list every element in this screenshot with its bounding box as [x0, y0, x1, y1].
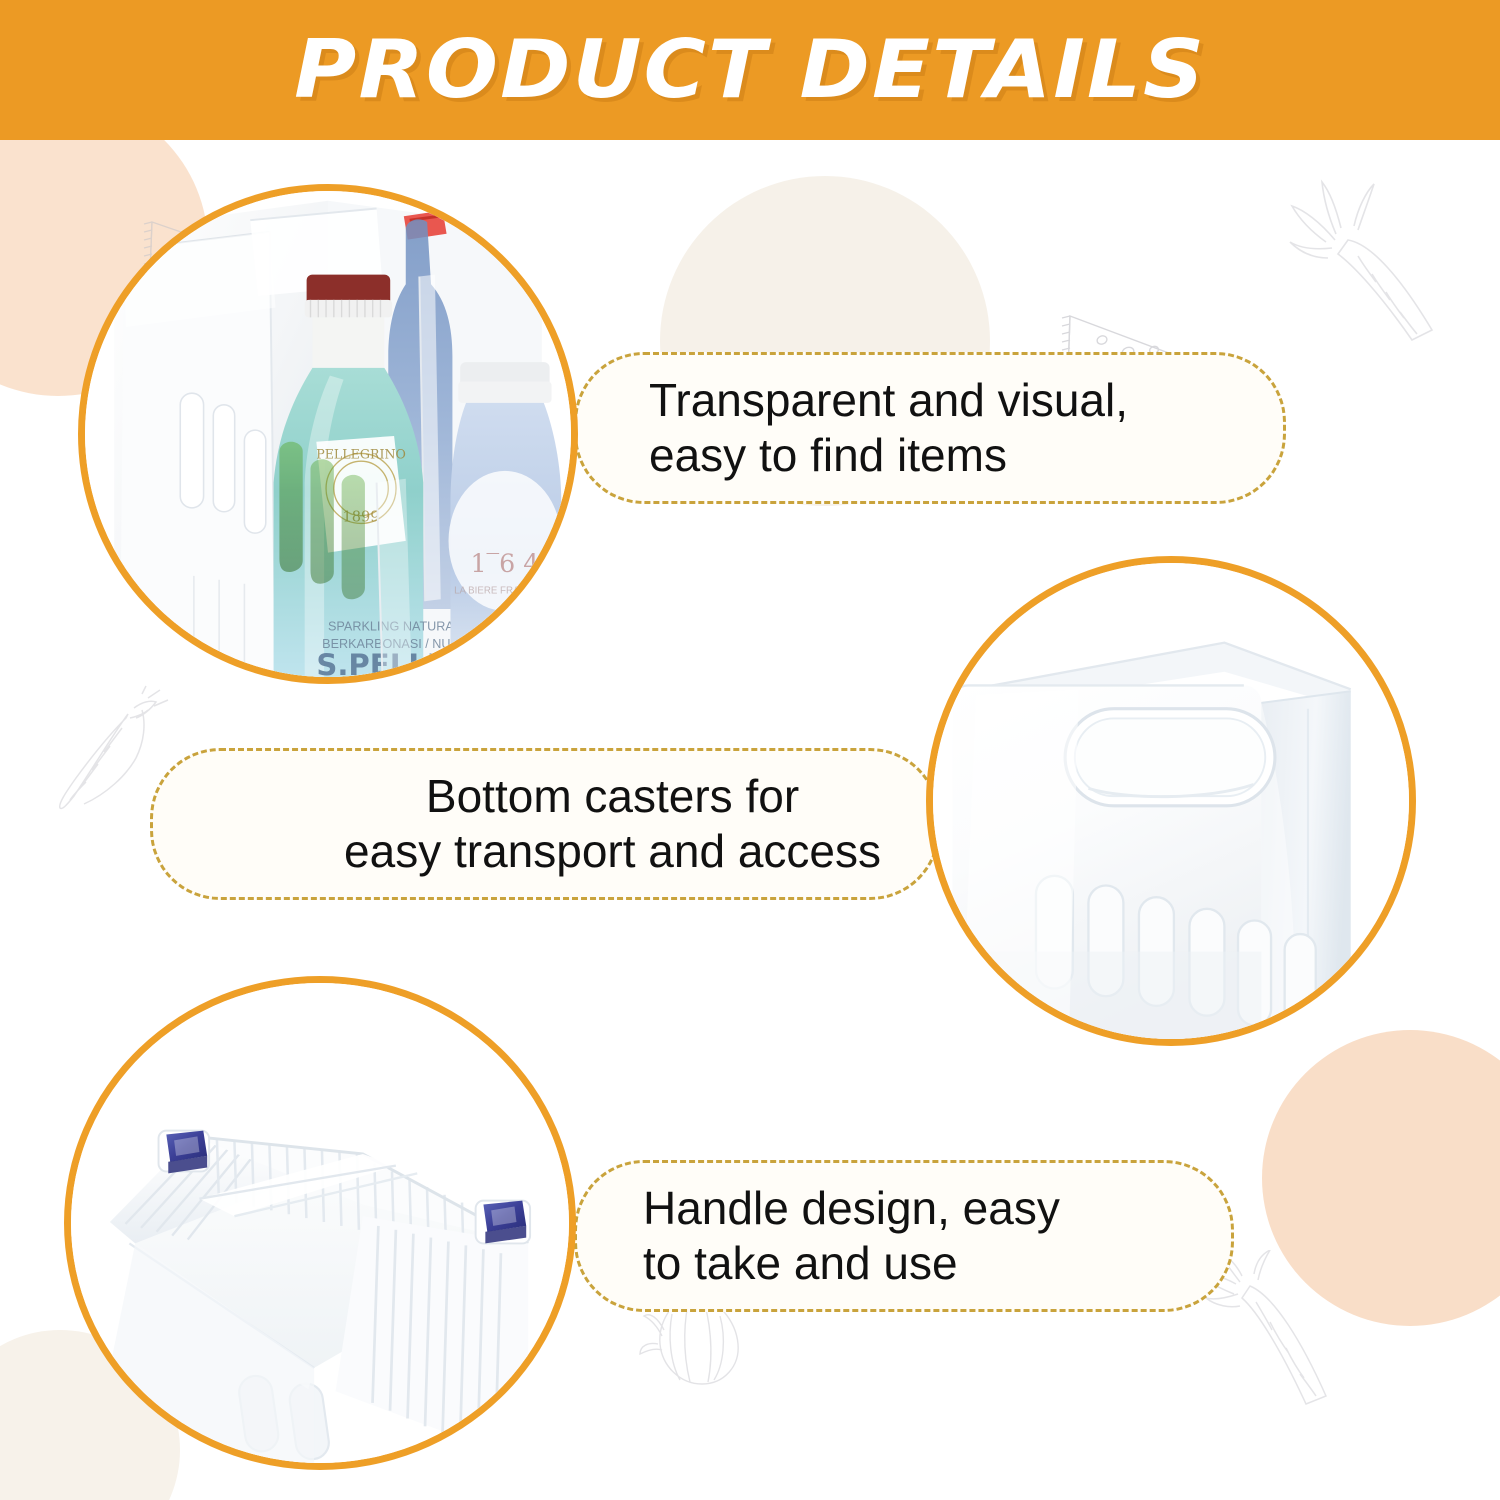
photo-bottles-in-clear-bin: PELLEGRINO 1899 SPARKLING NATURAL M BERK…: [78, 184, 578, 684]
svg-text:1‾6 4: 1‾6 4: [470, 549, 539, 578]
page-title: PRODUCT DETAILS: [294, 30, 1206, 110]
header-banner: PRODUCT DETAILS: [0, 0, 1500, 140]
product-details-infographic: PRODUCT DETAILS Transparent and visual, …: [0, 0, 1500, 1500]
peach-circle-bottom-right: [1262, 1030, 1500, 1326]
photo-bottles-artwork: PELLEGRINO 1899 SPARKLING NATURAL M BERK…: [85, 191, 571, 677]
feature-callout-casters: Bottom casters for easy transport and ac…: [150, 748, 940, 900]
feature-callout-transparent: Transparent and visual, easy to find ite…: [574, 352, 1286, 504]
photo-bin-bottom-casters: [64, 976, 576, 1470]
feature-callout-handle: Handle design, easy to take and use: [574, 1160, 1234, 1312]
photo-bin-handle-closeup: [926, 556, 1416, 1046]
carrot-doodle-top-right: [1262, 170, 1472, 360]
photo-handle-artwork: [933, 563, 1409, 1039]
svg-text:PELLEGRINO: PELLEGRINO: [316, 446, 406, 461]
photo-casters-artwork: [71, 983, 569, 1463]
svg-text:LA BIERE FRANCAISE: LA BIERE FRANCAISE: [454, 585, 556, 596]
feature-text-handle: Handle design, easy to take and use: [643, 1181, 1060, 1291]
feature-text-transparent: Transparent and visual, easy to find ite…: [649, 373, 1128, 483]
feature-text-casters: Bottom casters for easy transport and ac…: [344, 769, 881, 879]
